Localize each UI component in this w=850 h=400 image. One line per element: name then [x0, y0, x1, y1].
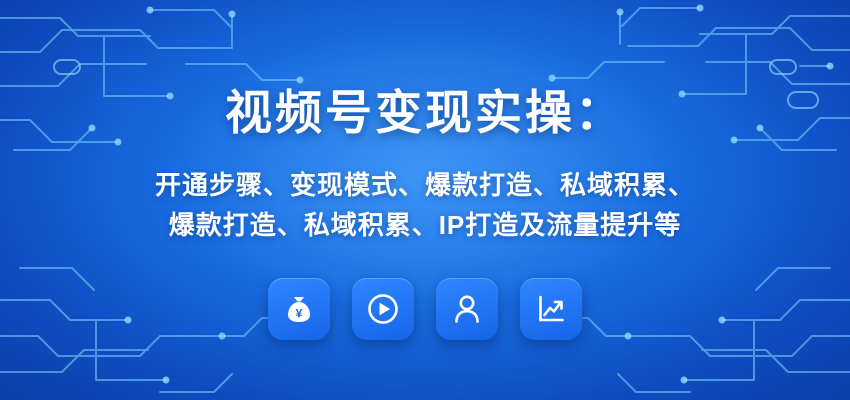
icon-row: ¥: [268, 278, 582, 340]
play-button-icon: [352, 278, 414, 340]
user-person-icon: [436, 278, 498, 340]
growth-chart-icon: [520, 278, 582, 340]
poster-banner: 视频号变现实操： 开通步骤、变现模式、爆款打造、私域积累、 爆款打造、私域积累、…: [0, 0, 850, 400]
money-bag-icon: ¥: [268, 278, 330, 340]
subtitle-block: 开通步骤、变现模式、爆款打造、私域积累、 爆款打造、私域积累、IP打造及流量提升…: [155, 165, 695, 246]
svg-text:¥: ¥: [296, 306, 303, 320]
subtitle-line-1: 开通步骤、变现模式、爆款打造、私域积累、: [155, 165, 695, 205]
subtitle-line-2: 爆款打造、私域积累、IP打造及流量提升等: [155, 205, 695, 245]
poster-content: 视频号变现实操： 开通步骤、变现模式、爆款打造、私域积累、 爆款打造、私域积累、…: [0, 0, 850, 400]
page-title: 视频号变现实操：: [225, 74, 625, 143]
